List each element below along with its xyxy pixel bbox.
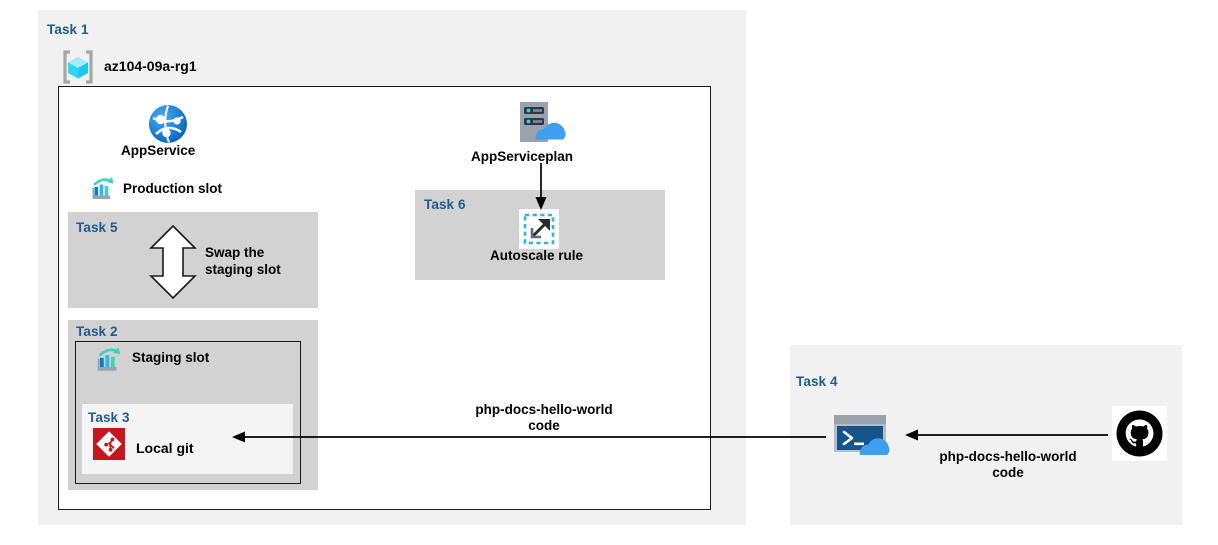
task5-label: Task 5 xyxy=(76,220,118,235)
code-transfer-label-right: php-docs-hello-world code xyxy=(908,449,1108,481)
staging-slot-label: Staging slot xyxy=(132,350,209,366)
resource-group-label: az104-09a-rg1 xyxy=(104,58,197,74)
github-icon xyxy=(1112,406,1167,461)
resource-group-icon xyxy=(60,50,96,84)
deployment-slot-icon-production xyxy=(89,175,117,203)
app-service-label: AppService xyxy=(121,143,195,159)
local-git-label: Local git xyxy=(136,440,194,456)
production-slot-label: Production slot xyxy=(123,181,222,197)
task6-label: Task 6 xyxy=(424,197,466,212)
deployment-slot-icon-staging xyxy=(94,345,124,375)
code-center-line2: code xyxy=(528,418,560,433)
code-transfer-label-center: php-docs-hello-world code xyxy=(444,402,644,434)
task1-label: Task 1 xyxy=(47,22,89,37)
task4-label: Task 4 xyxy=(796,374,838,389)
diagram-canvas: Task 1 az104-09a-rg1 xyxy=(0,0,1218,545)
cloud-shell-icon xyxy=(832,413,898,459)
app-service-plan-icon xyxy=(514,100,568,148)
swap-label-line2: staging slot xyxy=(205,262,281,278)
task3-label: Task 3 xyxy=(88,410,130,425)
swap-arrow-icon xyxy=(145,224,201,300)
code-center-line1: php-docs-hello-world xyxy=(475,402,612,417)
task2-label: Task 2 xyxy=(76,324,118,339)
git-icon xyxy=(93,428,125,460)
app-service-plan-label: AppServiceplan xyxy=(471,149,573,165)
autoscale-rule-label: Autoscale rule xyxy=(490,248,583,264)
app-service-icon xyxy=(148,104,188,144)
swap-label-line1: Swap the xyxy=(205,245,264,261)
autoscale-icon xyxy=(519,209,559,249)
code-right-line1: php-docs-hello-world xyxy=(939,449,1076,464)
code-right-line2: code xyxy=(992,465,1024,480)
